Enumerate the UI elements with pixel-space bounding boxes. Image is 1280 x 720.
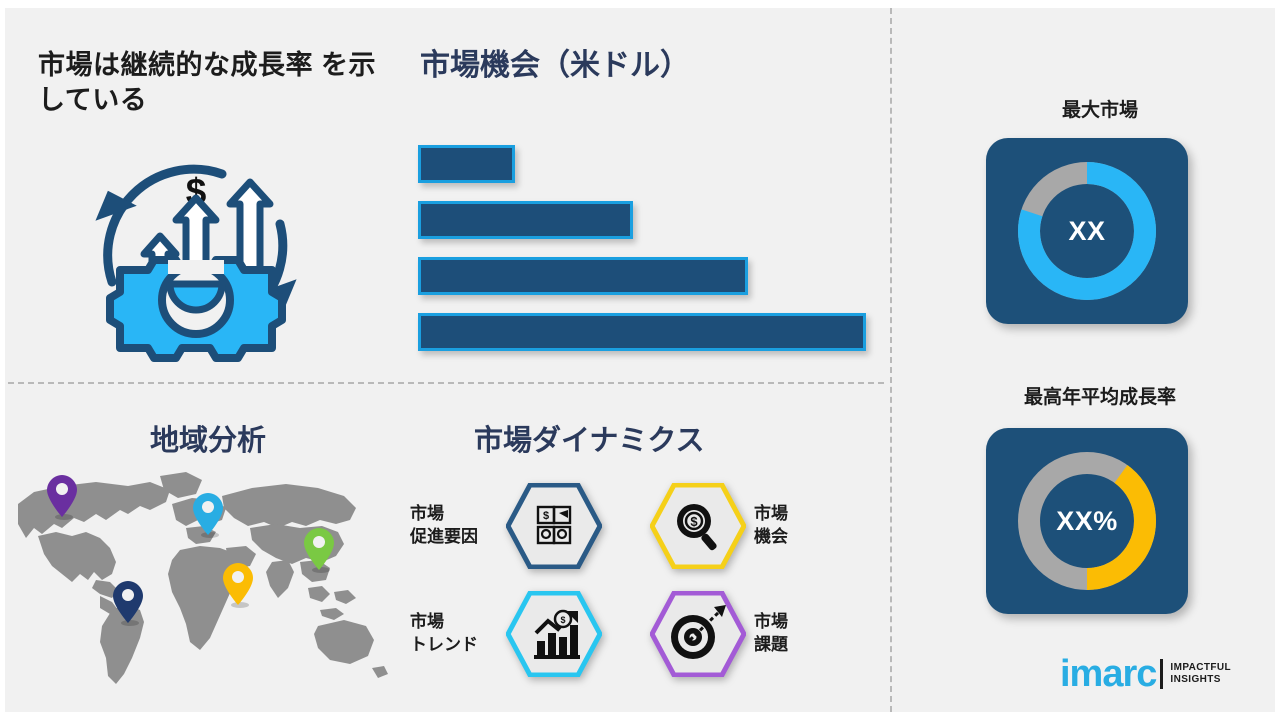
bar-chart-arrow-icon: $: [506, 591, 602, 677]
frame-edge-top: [0, 0, 1280, 8]
logo-tagline: IMPACTFUL INSIGHTS: [1170, 662, 1231, 687]
dynamics-item-challenges[interactable]: 市場 課題: [650, 588, 850, 680]
largest-market-heading: 最大市場: [955, 95, 1245, 122]
dynamics-label-challenges: 市場 課題: [754, 611, 850, 657]
svg-text:$: $: [690, 514, 698, 529]
magnifier-dollar-icon: $: [650, 483, 746, 569]
slide-canvas: 市場は継続的な成長率 を示している $ 市場機会（米ドル）: [0, 0, 1280, 720]
frame-edge-bottom: [0, 712, 1280, 720]
bar-item: [418, 201, 633, 239]
pin-south-america: [112, 580, 146, 631]
svg-text:$: $: [560, 615, 565, 625]
dynamics-label-trends: 市場 トレンド: [410, 611, 506, 657]
largest-market-donut-card: XX: [986, 138, 1188, 324]
pin-east-asia: [303, 527, 337, 578]
growth-panel-title: 市場は継続的な成長率 を示している: [38, 48, 378, 117]
dynamics-item-opportunities[interactable]: $ 市場 機会: [650, 480, 850, 572]
divider-vertical: [890, 8, 892, 712]
dynamics-label-drivers: 市場 促進要因: [410, 503, 506, 549]
growth-cycle-gear-icon: $: [72, 132, 320, 368]
pin-middle-east: [222, 562, 256, 613]
opportunity-panel-title: 市場機会（米ドル）: [420, 48, 880, 84]
logo-divider-bar: [1160, 659, 1163, 689]
world-map: [0, 462, 400, 694]
target-dart-icon: [650, 591, 746, 677]
bar-item: [418, 257, 748, 295]
highest-cagr-heading: 最高年平均成長率: [955, 382, 1245, 409]
imarc-logo: imarc IMPACTFUL INSIGHTS: [1060, 655, 1231, 693]
market-opportunity-bar-chart: [418, 145, 878, 350]
divider-horizontal: [8, 382, 884, 384]
highest-cagr-donut-card: XX%: [986, 428, 1188, 614]
pin-north-america: [46, 474, 80, 525]
frame-edge-right: [1275, 0, 1280, 720]
pin-europe: [192, 492, 226, 543]
svg-text:$: $: [543, 510, 549, 522]
bar-item: [418, 145, 515, 183]
bar-item: [418, 313, 866, 351]
dynamics-item-drivers[interactable]: 市場 促進要因 $: [410, 480, 602, 572]
puzzle-pieces-icon: $: [506, 483, 602, 569]
highest-cagr-value: XX%: [986, 428, 1188, 614]
dynamics-label-opportunities: 市場 機会: [754, 503, 850, 549]
logo-wordmark: imarc: [1060, 655, 1156, 693]
dynamics-panel-title: 市場ダイナミクス: [474, 424, 705, 459]
dynamics-item-trends[interactable]: 市場 トレンド $: [410, 588, 602, 680]
regional-panel-title: 地域分析: [150, 424, 266, 459]
market-dynamics-grid: 市場 促進要因 $: [404, 480, 884, 680]
largest-market-value: XX: [986, 138, 1188, 324]
